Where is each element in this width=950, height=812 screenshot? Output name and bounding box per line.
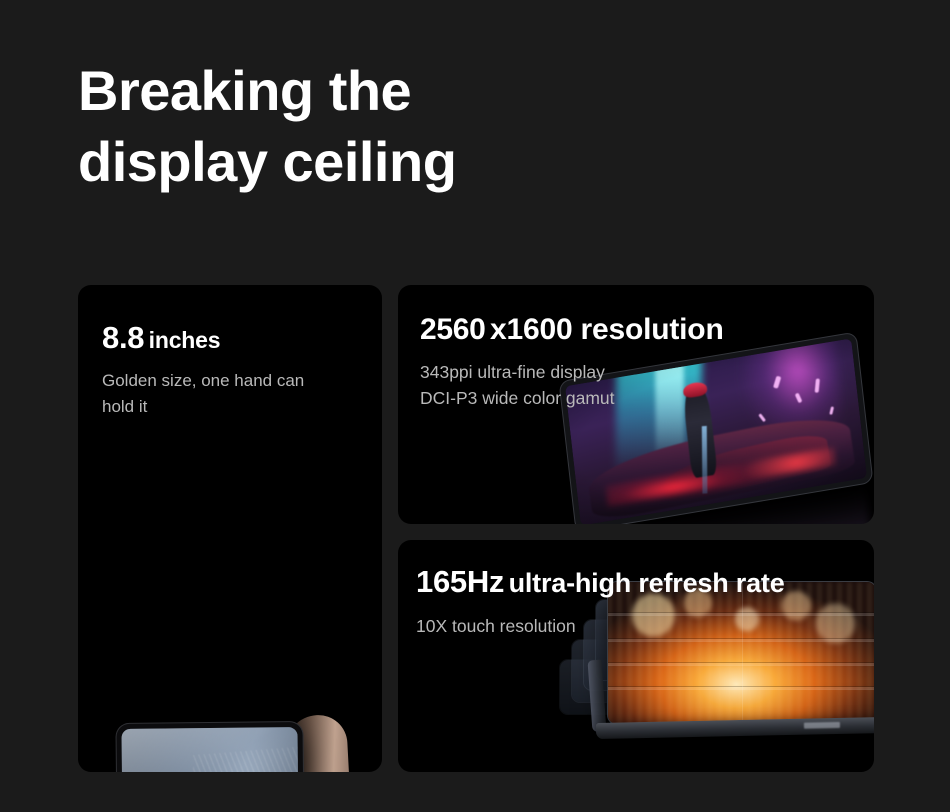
- card-resolution-title: 2560 x1600 resolution: [420, 313, 724, 347]
- refresh-slice-line: [608, 663, 874, 665]
- tablet-portrait-screen: [121, 727, 300, 772]
- feature-card-size[interactable]: 8.8 inches Golden size, one hand can hol…: [78, 285, 382, 772]
- card-size-title-value: 8.8: [102, 320, 144, 355]
- card-refresh-text-block: 165Hz ultra-high refresh rate 10X touch …: [416, 564, 785, 639]
- page-title: Breaking the display ceiling: [78, 56, 456, 197]
- card-size-title: 8.8 inches: [102, 320, 304, 356]
- feature-card-resolution[interactable]: 2560 x1600 resolution 343ppi ultra-fine …: [398, 285, 874, 524]
- card-refresh-subtitle: 10X touch resolution: [416, 613, 785, 639]
- dune-wallpaper-vignette: [121, 727, 300, 772]
- card-resolution-title-unit: x1600 resolution: [490, 313, 724, 346]
- card-resolution-title-value: 2560: [420, 313, 486, 346]
- card-size-text-block: 8.8 inches Golden size, one hand can hol…: [102, 320, 304, 419]
- tablet-portrait-device: [116, 722, 305, 772]
- card-refresh-title: 165Hz ultra-high refresh rate: [416, 564, 785, 600]
- product-feature-page: Breaking the display ceiling 8.8 inches …: [0, 0, 950, 812]
- feature-card-refresh-rate[interactable]: 165Hz ultra-high refresh rate 10X touch …: [398, 540, 874, 772]
- card-refresh-title-unit: ultra-high refresh rate: [509, 568, 785, 598]
- card-refresh-title-value: 165Hz: [416, 564, 504, 599]
- card-size-subtitle: Golden size, one hand can hold it: [102, 368, 304, 419]
- card-resolution-text-block: 2560 x1600 resolution 343ppi ultra-fine …: [420, 313, 724, 412]
- card-resolution-subtitle: 343ppi ultra-fine display DCI-P3 wide co…: [420, 359, 724, 412]
- brand-logo: [804, 722, 840, 729]
- card-size-title-unit: inches: [149, 327, 221, 353]
- refresh-slice-line: [608, 687, 874, 689]
